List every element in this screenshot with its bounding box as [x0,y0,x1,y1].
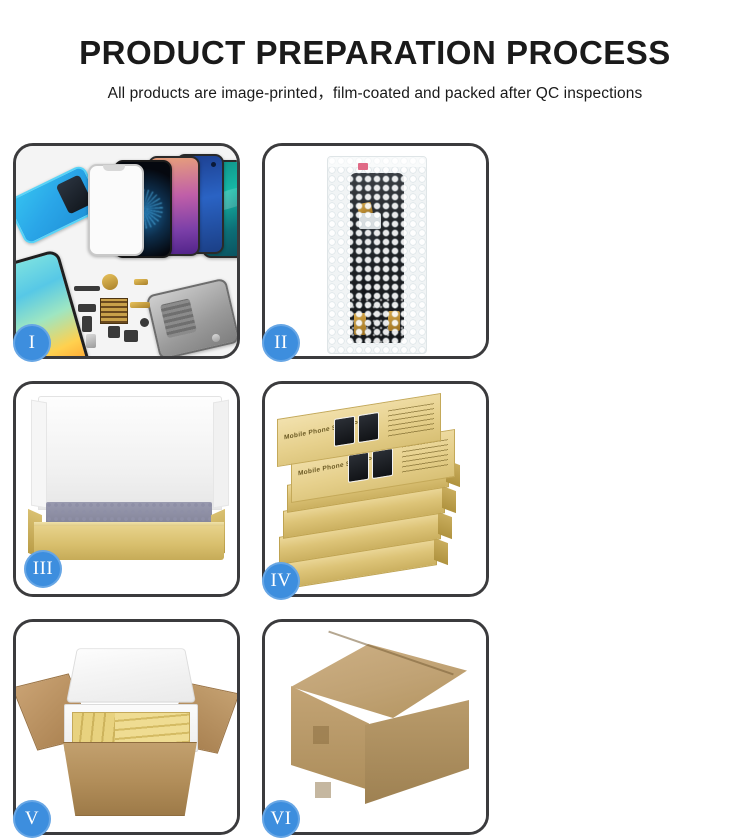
page-subtitle: All products are image-printed，film-coat… [0,81,750,103]
step-badge-5: V [13,800,51,838]
step-1-image [16,146,237,356]
step-2-image [265,146,486,356]
chip-grid-part-icon [100,298,128,324]
step-4-image: Mobile Phone Spare Parts Mobile Phone Sp… [265,384,486,594]
vibrator-part-icon [124,330,138,342]
screw-set-icon [212,334,220,342]
carton-body-icon [54,742,206,816]
process-step-panel-4: Mobile Phone Spare Parts Mobile Phone Sp… [262,381,489,597]
header: PRODUCT PREPARATION PROCESS All products… [0,0,750,103]
box-screen-graphic-b [372,448,393,479]
pink-qc-sticker-icon [358,163,368,170]
white-foam-lid-icon [38,396,222,510]
step-badge-3: III [24,550,62,588]
small-module-part-icon [78,304,96,312]
box-screen-graphic-c [334,416,355,447]
process-step-panel-1: I [13,143,240,359]
process-step-panel-3: III [13,381,240,597]
process-step-panel-2: II [262,143,489,359]
step-badge-2: II [262,324,300,362]
step-badge-4: IV [262,562,300,600]
process-step-grid: I II [13,143,737,835]
bubble-wrap-bag-icon [327,156,427,354]
flex-cable-part-icon [74,286,100,291]
sim-tray-part-icon [86,334,96,348]
step-6-image [265,622,486,832]
gold-connector-part-icon [134,279,148,285]
bag-seal [328,157,426,167]
box-screen-graphic-a [348,452,369,483]
speaker-part-icon [108,326,120,338]
process-step-panel-5: V [13,619,240,835]
white-front-glass-icon [88,164,144,256]
retail-box-stack-icon: Mobile Phone Spare Parts Mobile Phone Sp… [271,398,481,584]
carton-right-face [365,700,469,804]
bubble-texture [328,157,426,353]
page-title: PRODUCT PREPARATION PROCESS [0,36,750,71]
process-step-panel-6: VI [262,619,489,835]
gold-flex-part-icon [130,302,150,308]
step-badge-6: VI [262,800,300,838]
button-part-icon [82,316,92,332]
foam-cooler-lid-icon [66,648,196,702]
carton-tab-upper [313,726,329,744]
screw-part-icon [140,318,149,327]
step-5-image [16,622,237,832]
carton-tab-lower [315,782,331,798]
camera-lens-part-icon [102,274,118,290]
step-badge-1: I [13,324,51,362]
box-screen-graphic-d [358,412,379,443]
product-preparation-infographic: PRODUCT PREPARATION PROCESS All products… [0,0,750,750]
box-spec-lines-1 [388,403,434,438]
back-housing-icon [146,278,237,356]
kraft-box-front-icon [34,526,224,560]
